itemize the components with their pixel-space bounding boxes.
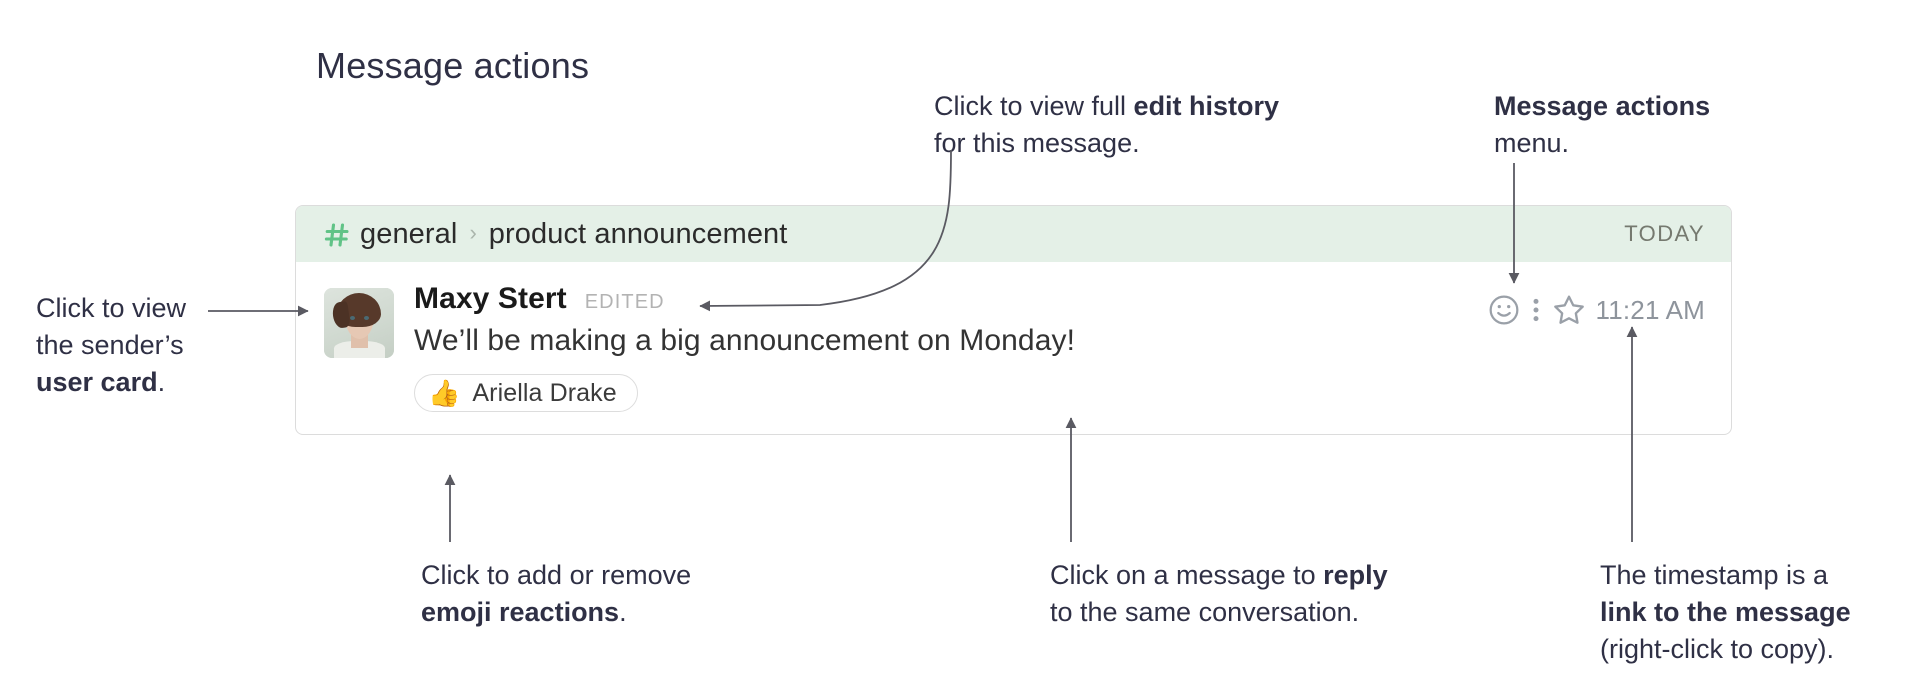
annotation-emphasis: emoji reactions [421,597,619,627]
annotation-line: (right-click to copy). [1600,631,1851,668]
hash-icon [324,222,350,248]
more-actions-icon[interactable] [1521,293,1551,327]
breadcrumb-chevron-icon: › [469,222,476,244]
annotation-text: . [158,367,166,397]
message-timestamp-link[interactable]: 11:21 AM [1595,295,1705,326]
annotation-timestamp-link: The timestamp is a link to the message (… [1600,557,1851,668]
annotation-emoji-reactions: Click to add or remove emoji reactions. [421,557,691,631]
message-card[interactable]: general › product announcement TODAY Max… [295,205,1732,435]
annotation-user-card: Click to view the sender’s user card. [36,290,186,401]
annotation-line: to the same conversation. [1050,594,1388,631]
page-title: Message actions [316,45,589,87]
annotation-line: user card. [36,364,186,401]
avatar[interactable] [324,288,394,358]
annotation-emphasis: edit history [1134,91,1280,121]
annotation-line: for this message. [934,125,1279,162]
annotation-edit-history: Click to view full edit history for this… [934,88,1279,162]
annotation-line: The timestamp is a [1600,557,1851,594]
message-row[interactable]: Maxy Stert EDITED We’ll be making a big … [296,262,1731,434]
annotation-line: Click to view [36,290,186,327]
annotation-reply: Click on a message to reply to the same … [1050,557,1388,631]
reaction-label: Ariella Drake [472,379,616,408]
annotation-emphasis: reply [1323,560,1388,590]
avatar-eye-right [364,316,369,320]
breadcrumb-topic[interactable]: product announcement [489,218,788,251]
annotation-emphasis: Message actions [1494,91,1710,121]
annotation-line: emoji reactions. [421,594,691,631]
annotation-emphasis: link to the message [1600,597,1851,627]
avatar-eye-left [350,316,355,320]
edited-badge[interactable]: EDITED [585,291,665,314]
message-controls: 11:21 AM [1487,292,1705,328]
annotation-line: Click on a message to reply [1050,557,1388,594]
annotation-text: . [619,597,627,627]
thumbs-up-icon: 👍 [428,380,460,406]
annotation-line: Click to view full edit history [934,88,1279,125]
annotation-line: link to the message [1600,594,1851,631]
annotation-actions-menu: Message actions menu. [1494,88,1710,162]
annotation-line: Click to add or remove [421,557,691,594]
sender-name[interactable]: Maxy Stert [414,282,567,316]
annotation-emphasis: user card [36,367,158,397]
annotation-text: Click on a message to [1050,560,1323,590]
message-card-header: general › product announcement TODAY [296,206,1731,262]
annotation-line: Message actions [1494,88,1710,125]
annotation-text: Click to view full [934,91,1134,121]
star-icon[interactable] [1551,292,1587,328]
reactions-row: 👍 Ariella Drake [414,374,1705,412]
annotation-line: menu. [1494,125,1710,162]
breadcrumb-stream[interactable]: general [360,218,457,251]
reaction-pill[interactable]: 👍 Ariella Drake [414,374,638,412]
emoji-picker-icon[interactable] [1487,293,1521,327]
annotation-line: the sender’s [36,327,186,364]
date-label: TODAY [1624,221,1705,247]
